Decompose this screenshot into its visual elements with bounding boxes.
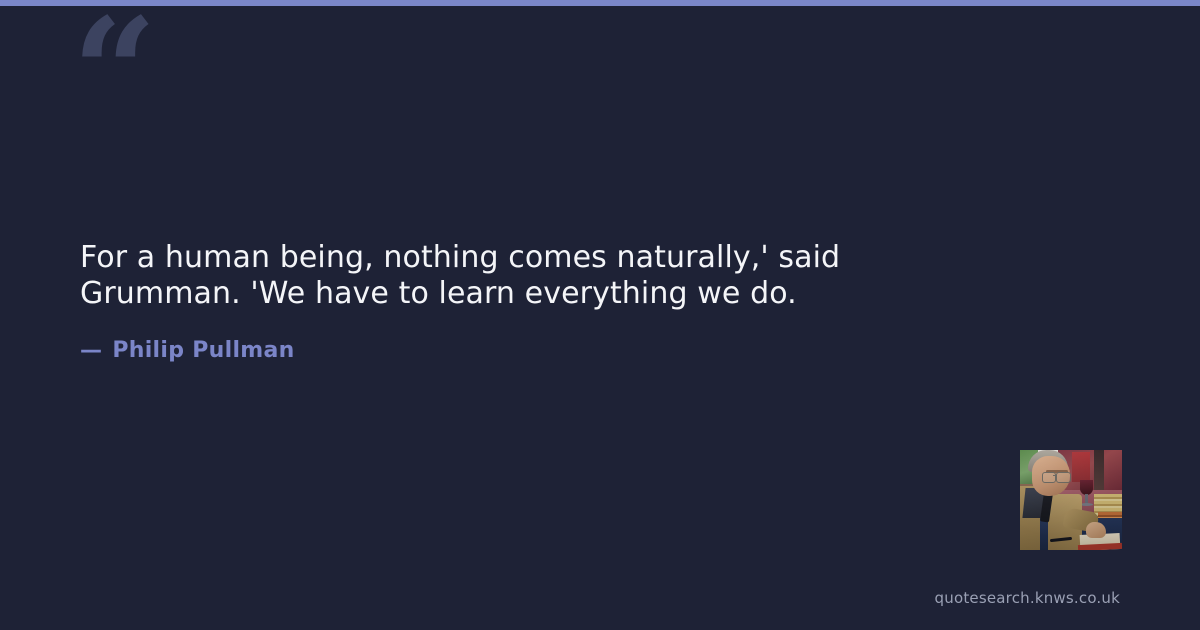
photo-glasses-right [1056,472,1071,483]
photo-glasses-bridge [1053,475,1057,476]
photo-open-book-cover [1078,543,1122,550]
photo-post [1094,450,1104,494]
quote-block: For a human being, nothing comes natural… [80,240,980,312]
photo-wine-glass-bowl [1080,480,1093,495]
quote-text: For a human being, nothing comes natural… [80,240,980,312]
photo-shelf-books [1072,452,1090,482]
opening-quote-mark-icon: “ [72,0,155,146]
attribution: — Philip Pullman [80,338,295,363]
author-photo [1020,450,1122,550]
quote-card: “ For a human being, nothing comes natur… [0,0,1200,630]
photo-glasses-left [1042,472,1056,483]
attribution-dash: — [80,338,102,363]
top-accent-bar [0,0,1200,6]
photo-hand [1086,522,1106,538]
author-name: Philip Pullman [112,338,294,363]
source-url: quotesearch.knws.co.uk [935,589,1120,607]
